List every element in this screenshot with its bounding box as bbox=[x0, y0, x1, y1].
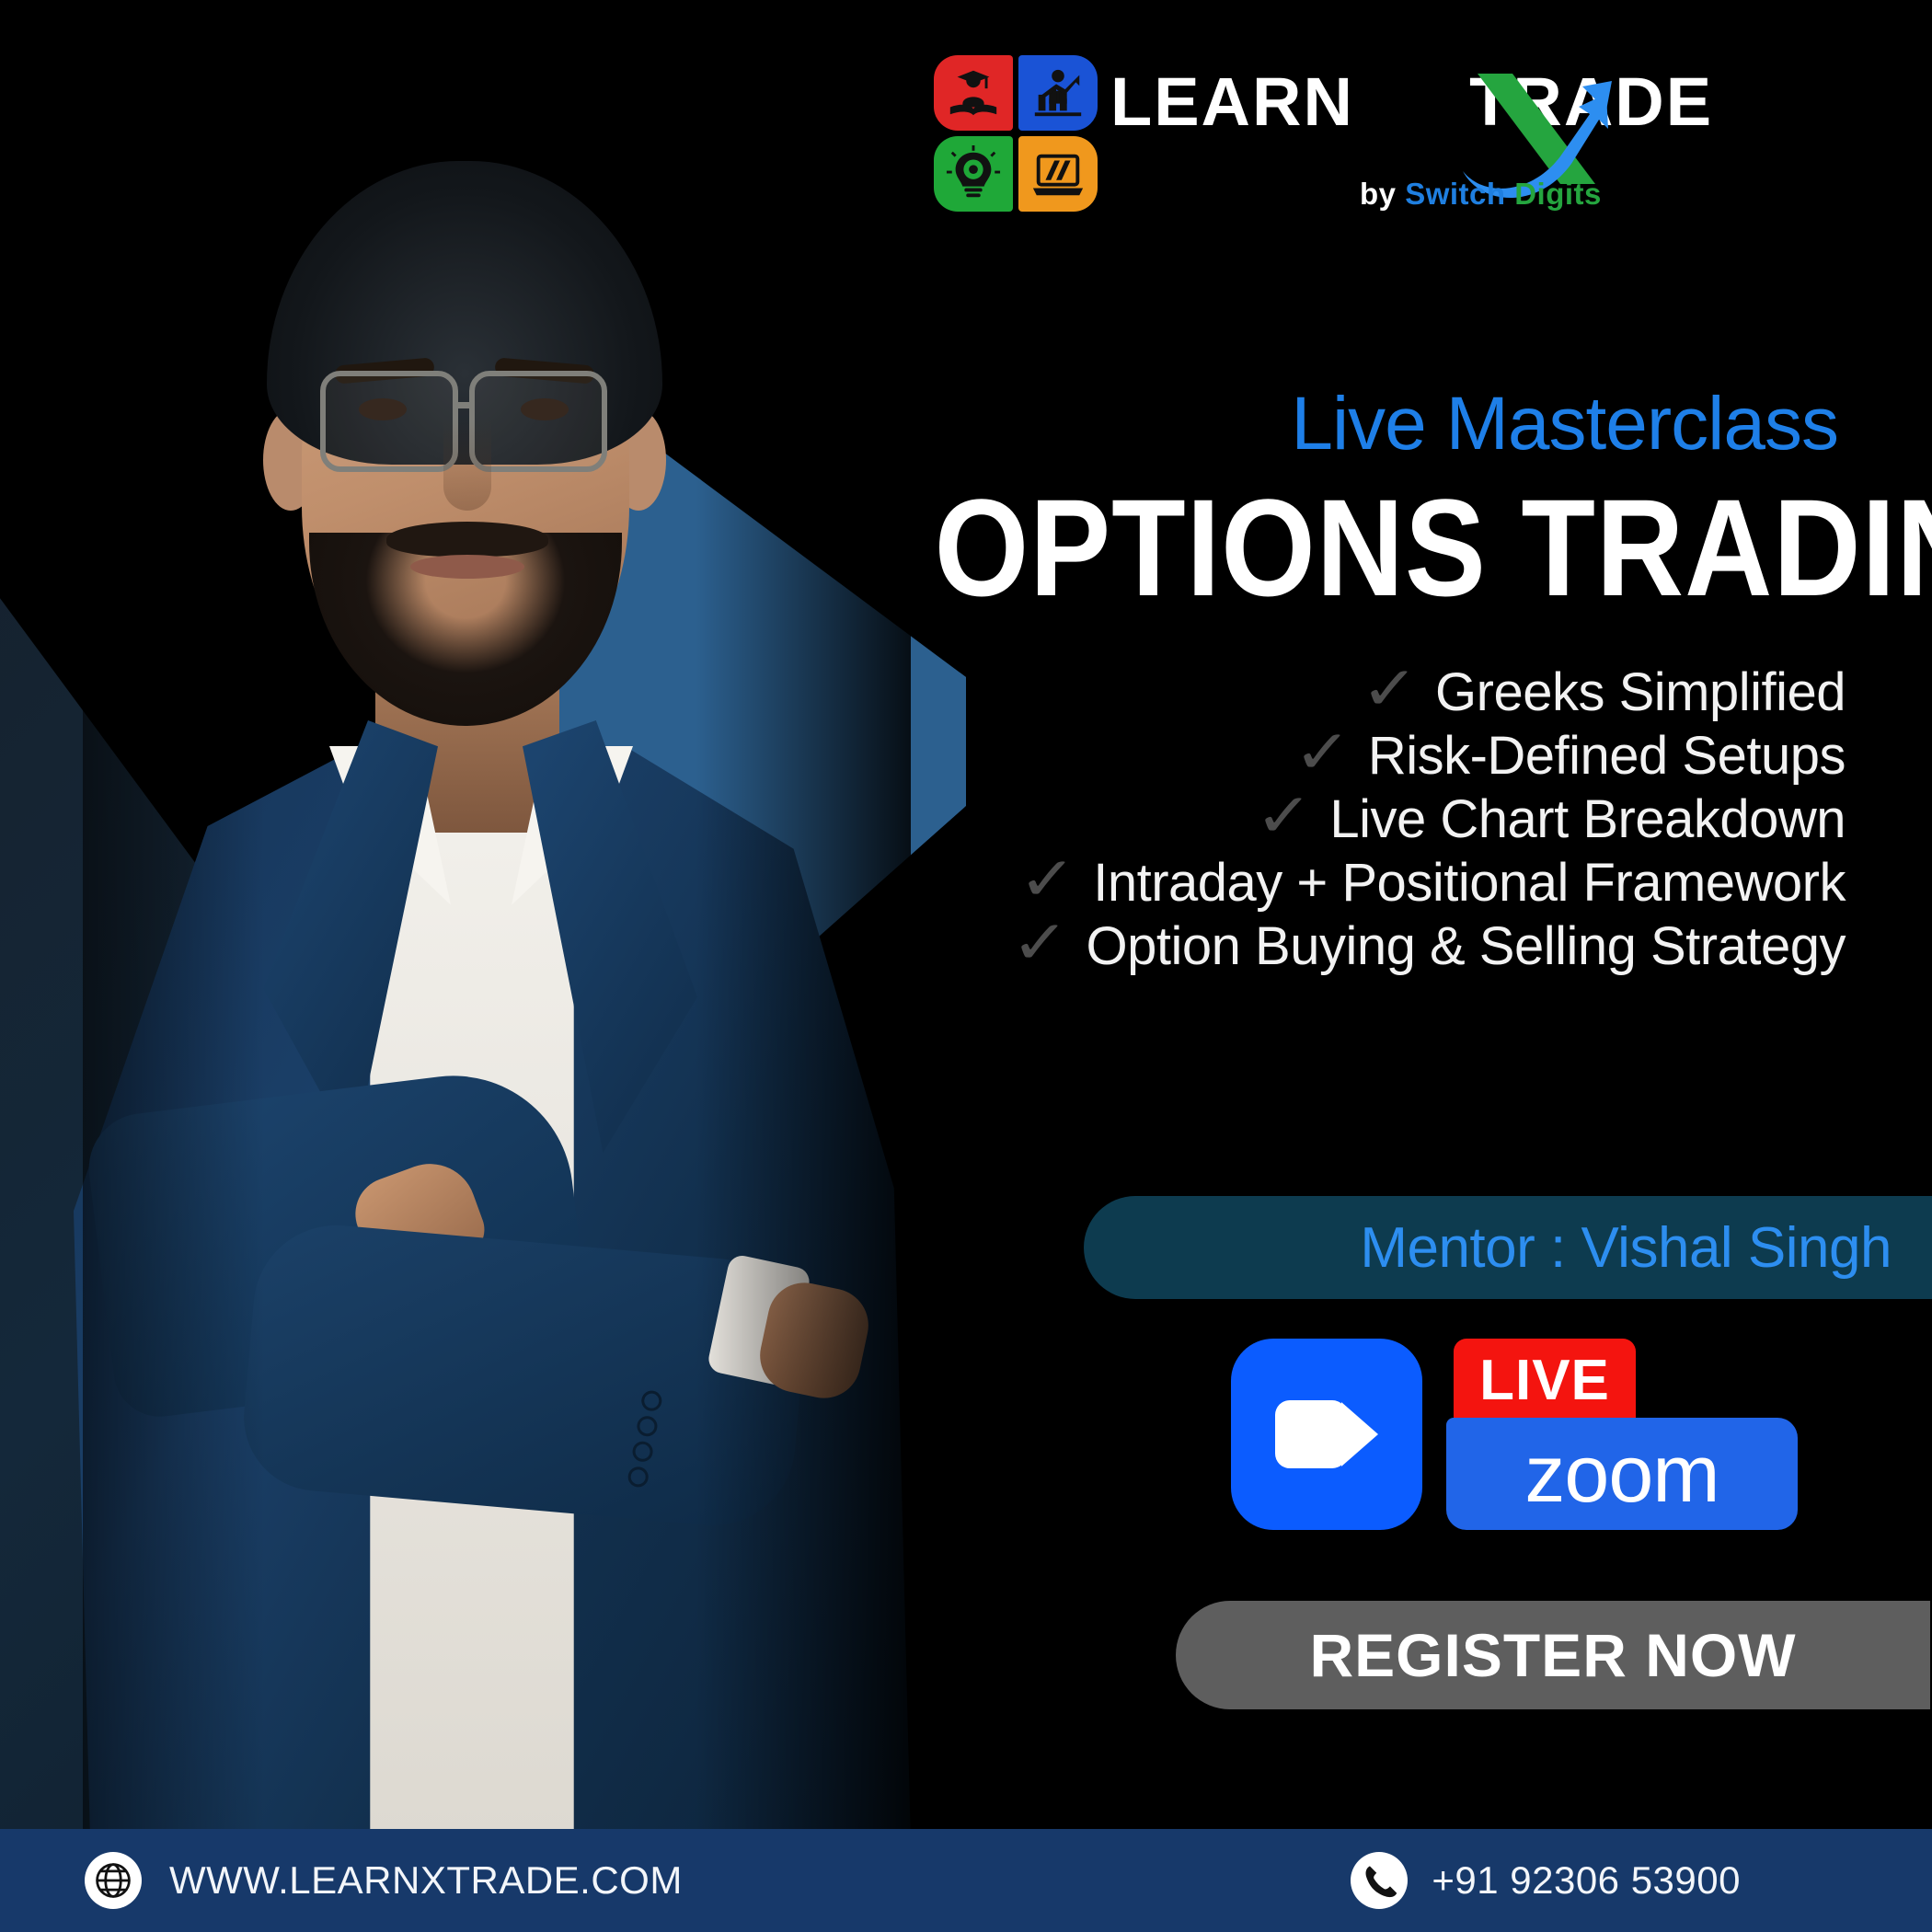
list-item: ✓ Live Chart Breakdown bbox=[1259, 788, 1846, 850]
mentor-banner: Mentor : Vishal Singh bbox=[1084, 1196, 1932, 1299]
live-zoom-badge: LIVE zoom bbox=[1446, 1339, 1798, 1530]
zoom-wordmark-label: zoom bbox=[1524, 1433, 1719, 1514]
footer-bar: WWW.LEARNXTRADE.COM +91 92306 53900 bbox=[0, 1829, 1932, 1932]
list-item-label: Live Chart Breakdown bbox=[1329, 788, 1846, 850]
list-item-label: Risk-Defined Setups bbox=[1368, 725, 1846, 787]
logo-icon-grid bbox=[934, 55, 1098, 212]
hero-kicker: Live Masterclass bbox=[810, 386, 1849, 462]
graduate-book-icon bbox=[934, 55, 1013, 131]
zoom-wordmark: zoom bbox=[1446, 1418, 1798, 1530]
tagline-by: by bbox=[1360, 177, 1397, 211]
check-icon: ✓ bbox=[1255, 785, 1314, 845]
tagline-digits: Digits bbox=[1514, 177, 1602, 211]
footer-phone[interactable]: +91 92306 53900 bbox=[1351, 1852, 1741, 1909]
live-badge-label: LIVE bbox=[1479, 1352, 1610, 1409]
feature-list: ✓ Greeks Simplified ✓ Risk-Defined Setup… bbox=[810, 661, 1849, 977]
list-item: ✓ Risk-Defined Setups bbox=[1297, 725, 1846, 787]
check-icon: ✓ bbox=[1018, 848, 1077, 909]
hero-headline: OPTIONS TRADING bbox=[935, 482, 1849, 614]
list-item-label: Greeks Simplified bbox=[1435, 661, 1846, 723]
list-item: ✓ Intraday + Positional Framework bbox=[1022, 852, 1846, 914]
globe-icon bbox=[85, 1852, 142, 1909]
footer-phone-label: +91 92306 53900 bbox=[1432, 1858, 1741, 1903]
platform-badges: LIVE zoom bbox=[1231, 1339, 1798, 1530]
logo-word-learn: LEARN bbox=[1110, 63, 1354, 140]
mentor-portrait-photo bbox=[83, 161, 911, 1831]
portrait-edge-fade bbox=[83, 161, 911, 1831]
footer-website[interactable]: WWW.LEARNXTRADE.COM bbox=[85, 1852, 683, 1909]
zoom-app-icon bbox=[1231, 1339, 1422, 1530]
check-icon: ✓ bbox=[1293, 721, 1351, 782]
list-item: ✓ Greeks Simplified bbox=[1364, 661, 1846, 723]
lightbulb-gear-icon bbox=[934, 136, 1013, 212]
growth-chart-person-icon bbox=[1018, 55, 1098, 131]
check-icon: ✓ bbox=[1361, 658, 1420, 719]
register-now-label: REGISTER NOW bbox=[1309, 1620, 1796, 1690]
laptop-icon bbox=[1018, 136, 1098, 212]
list-item: ✓ Option Buying & Selling Strategy bbox=[1015, 915, 1846, 977]
live-badge: LIVE bbox=[1454, 1339, 1636, 1423]
check-icon: ✓ bbox=[1011, 912, 1070, 972]
phone-icon bbox=[1351, 1852, 1408, 1909]
footer-website-label: WWW.LEARNXTRADE.COM bbox=[169, 1858, 683, 1903]
list-item-label: Intraday + Positional Framework bbox=[1093, 852, 1846, 914]
zoom-camera-icon bbox=[1275, 1400, 1378, 1468]
register-now-button[interactable]: REGISTER NOW bbox=[1176, 1601, 1930, 1709]
tagline-switch: Switch bbox=[1405, 177, 1505, 211]
logo-tagline: by Switch Digits bbox=[1360, 177, 1602, 212]
mentor-label: Mentor : Vishal Singh bbox=[1360, 1215, 1932, 1281]
list-item-label: Option Buying & Selling Strategy bbox=[1087, 915, 1846, 977]
hero-content: Live Masterclass OPTIONS TRADING ✓ Greek… bbox=[810, 386, 1849, 977]
brand-logo: LEARN XXTRADE by Switch Digits bbox=[934, 48, 1670, 204]
promo-poster: LEARN XXTRADE by Switch Digits Live Mast… bbox=[0, 0, 1932, 1932]
